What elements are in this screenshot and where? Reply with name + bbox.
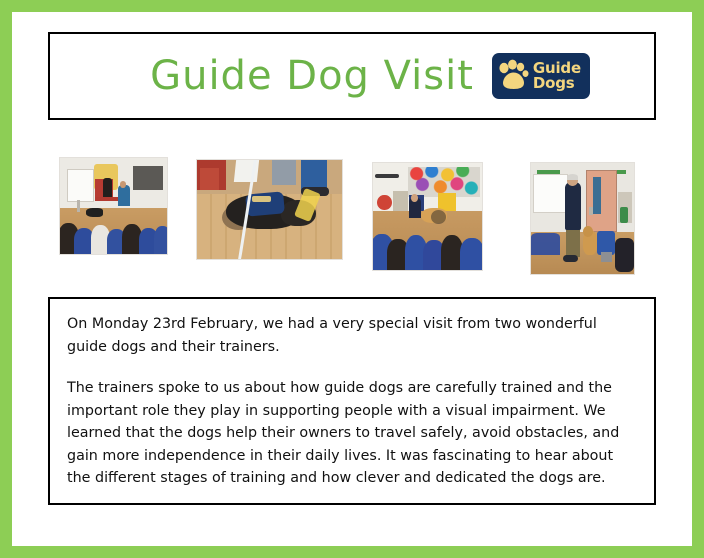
title-banner: Guide Dog Visit Guide Dogs — [48, 32, 656, 120]
photo-4-scene — [531, 163, 634, 274]
logo-line-2: Dogs — [533, 76, 581, 91]
report-text-box: On Monday 23rd February, we had a very s… — [48, 297, 656, 505]
page-title: Guide Dog Visit — [150, 56, 474, 96]
title-row: Guide Dog Visit Guide Dogs — [150, 53, 590, 99]
photo-1-classroom-trainer — [59, 157, 168, 255]
paw-print-icon — [496, 59, 530, 93]
logo-wordmark: Guide Dogs — [533, 61, 581, 90]
photo-3-class-with-golden-dog — [372, 162, 483, 271]
page-content: Guide Dog Visit Guide Dogs — [12, 12, 692, 546]
photo-2-scene — [197, 160, 342, 259]
page-frame: Guide Dog Visit Guide Dogs — [0, 0, 704, 558]
photo-4-man-with-guide-dog — [530, 162, 635, 275]
photo-strip — [48, 134, 656, 274]
guide-dogs-logo: Guide Dogs — [492, 53, 590, 99]
body-paragraph-2: The trainers spoke to us about how guide… — [67, 377, 637, 490]
photo-2-guide-dog-in-coat — [196, 159, 343, 260]
body-paragraph-1: On Monday 23rd February, we had a very s… — [67, 313, 637, 358]
photo-1-scene — [60, 158, 167, 254]
photo-3-scene — [373, 163, 482, 270]
